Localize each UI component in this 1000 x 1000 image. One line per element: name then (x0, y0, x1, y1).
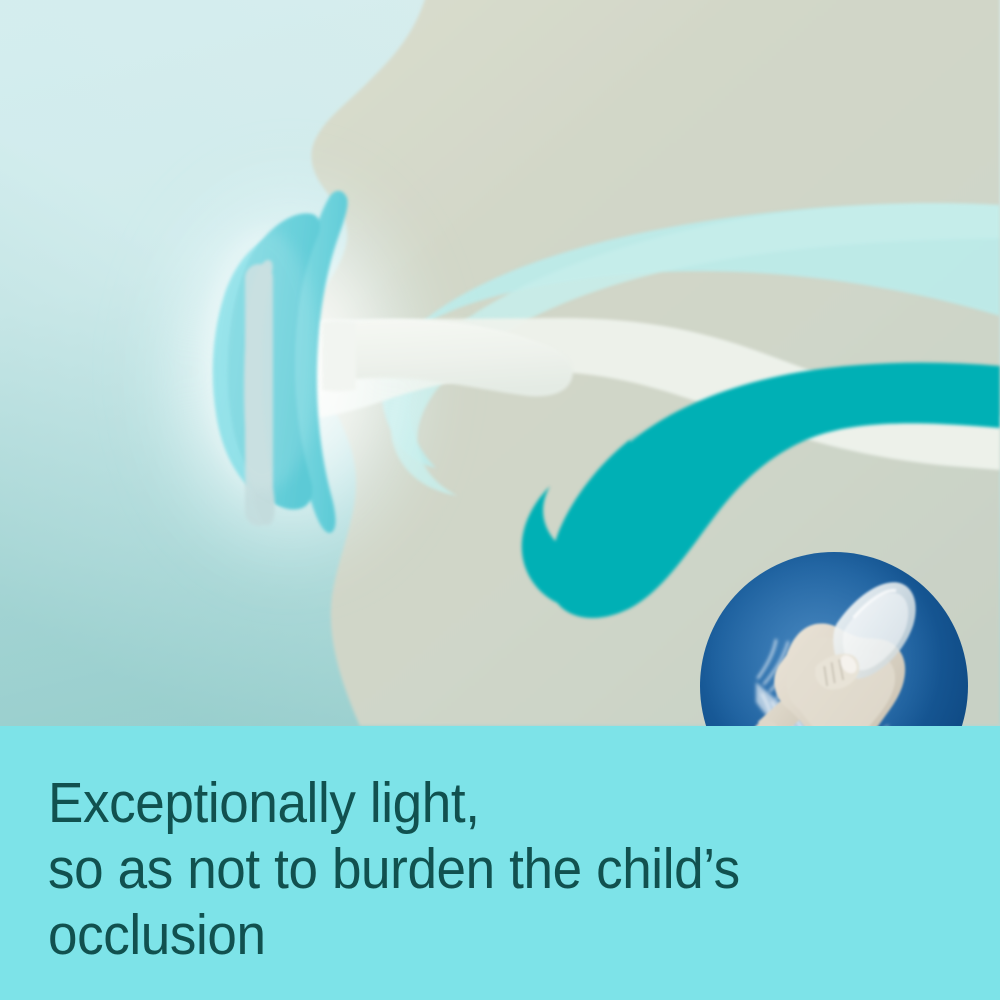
poster-root: Exceptionally light, so as not to burden… (0, 0, 1000, 1000)
caption-text: Exceptionally light, so as not to burden… (48, 770, 933, 968)
shield-highlight (204, 228, 320, 492)
caption-banner: Exceptionally light, so as not to burden… (0, 726, 1000, 1000)
